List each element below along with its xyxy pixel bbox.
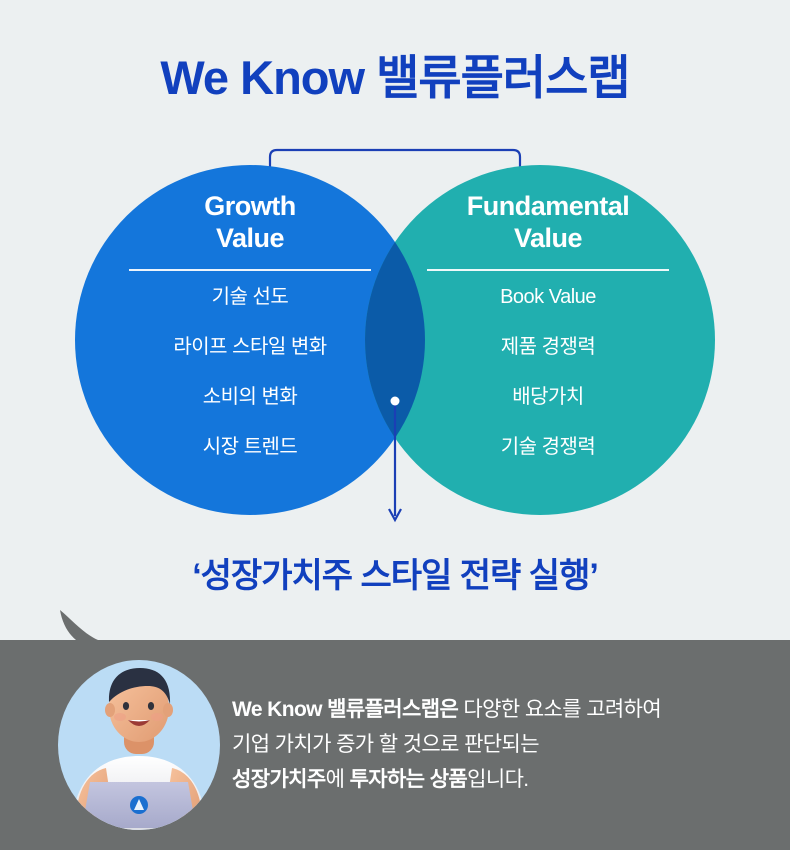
list-item: 기술 경쟁력 xyxy=(398,437,698,457)
growth-value-heading-line1: Growth xyxy=(100,190,400,222)
page-title: We Know 밸류플러스랩 xyxy=(0,52,790,104)
list-item: 제품 경쟁력 xyxy=(398,337,698,357)
description-line3-bold-a: 성장가치주 xyxy=(232,768,326,791)
growth-value-heading-line2: Value xyxy=(100,222,400,254)
fundamental-value-heading-line2: Value xyxy=(398,222,698,254)
description-line3-mid: 에 xyxy=(326,768,350,791)
growth-value-item-list: 기술 선도 라이프 스타일 변화 소비의 변화 시장 트렌드 xyxy=(100,287,400,457)
fundamental-value-content: Fundamental Value Book Value 제품 경쟁력 배당가치… xyxy=(398,190,698,457)
infographic-root: We Know 밸류플러스랩 xyxy=(0,0,790,850)
fundamental-value-item-list: Book Value 제품 경쟁력 배당가치 기술 경쟁력 xyxy=(398,287,698,457)
description-line1-rest: 다양한 요소를 고려하여 xyxy=(458,698,661,721)
list-item: 기술 선도 xyxy=(100,287,400,307)
fundamental-value-heading: Fundamental Value xyxy=(398,190,698,255)
description-line3-bold-b: 투자하는 상품 xyxy=(350,768,468,791)
avatar xyxy=(58,660,220,830)
list-item: 소비의 변화 xyxy=(100,387,400,407)
list-item: 배당가치 xyxy=(398,387,698,407)
list-item: 시장 트렌드 xyxy=(100,437,400,457)
strategy-tagline: ‘성장가치주 스타일 전략 실행’ xyxy=(0,548,790,597)
description-line-2: 기업 가치가 증가 할 것으로 판단되는 xyxy=(232,727,772,762)
venn-diagram: Growth Value 기술 선도 라이프 스타일 변화 소비의 변화 시장 … xyxy=(0,130,790,530)
description-line1-bold: We Know 밸류플러스랩은 xyxy=(232,698,458,721)
growth-value-heading: Growth Value xyxy=(100,190,400,255)
fundamental-value-heading-line1: Fundamental xyxy=(398,190,698,222)
growth-value-divider xyxy=(129,269,371,271)
description-text: We Know 밸류플러스랩은 다양한 요소를 고려하여 기업 가치가 증가 할… xyxy=(232,692,772,797)
fundamental-value-divider xyxy=(427,269,669,271)
list-item: Book Value xyxy=(398,287,698,307)
list-item: 라이프 스타일 변화 xyxy=(100,337,400,357)
description-line-1: We Know 밸류플러스랩은 다양한 요소를 고려하여 xyxy=(232,692,772,727)
growth-value-content: Growth Value 기술 선도 라이프 스타일 변화 소비의 변화 시장 … xyxy=(100,190,400,457)
bracket-connector xyxy=(270,150,520,170)
description-line3-rest: 입니다. xyxy=(467,768,528,791)
description-line-3: 성장가치주에 투자하는 상품입니다. xyxy=(232,762,772,797)
